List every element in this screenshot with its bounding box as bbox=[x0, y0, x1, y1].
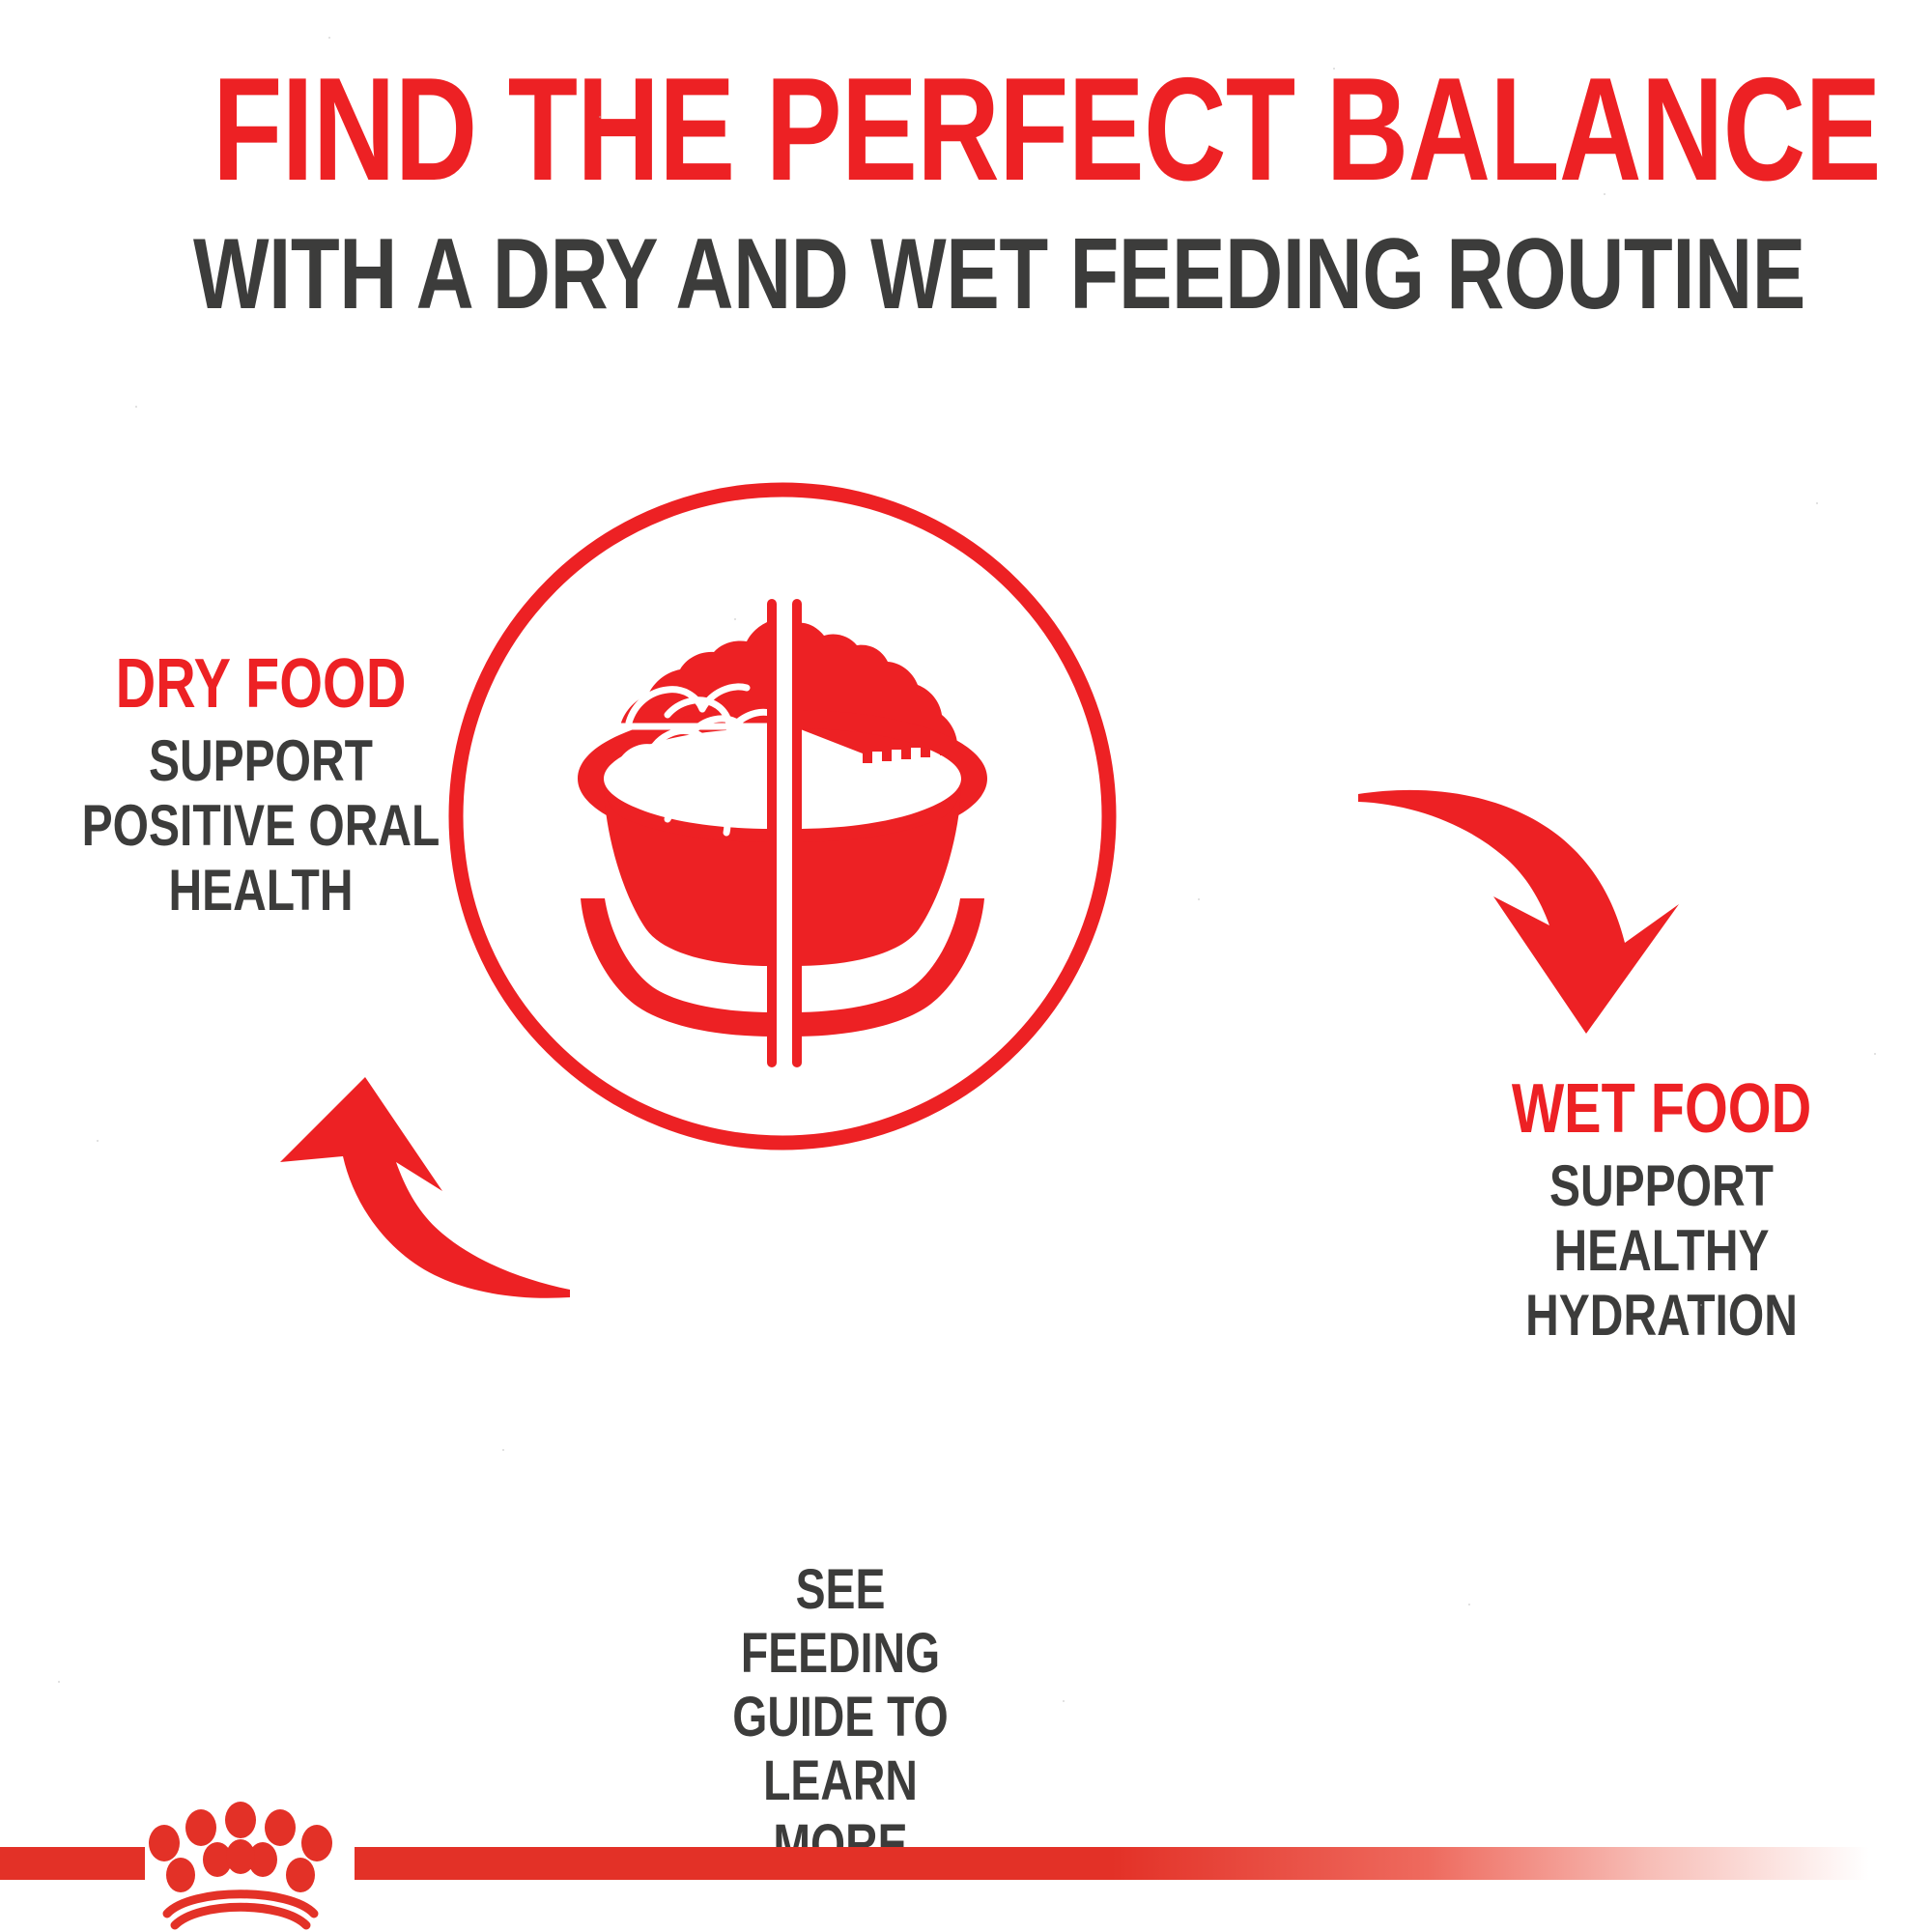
wet-food-kicker: WET FOOD bbox=[1457, 1074, 1866, 1144]
dry-food-text-block: DRY FOOD SUPPORT POSITIVE ORAL HEALTH bbox=[19, 649, 502, 923]
dry-food-kicker: DRY FOOD bbox=[68, 649, 454, 719]
footer bbox=[0, 1797, 1932, 1932]
heading-group: FIND THE PERFECT BALANCE WITH A DRY AND … bbox=[0, 60, 1932, 325]
dry-food-line-1: SUPPORT bbox=[149, 728, 373, 793]
royal-canin-crown-logo bbox=[135, 1799, 346, 1930]
curved-arrow-down-right-icon bbox=[1352, 753, 1700, 1053]
infographic-canvas: FIND THE PERFECT BALANCE WITH A DRY AND … bbox=[0, 0, 1932, 1932]
dry-food-line-2: POSITIVE ORAL bbox=[82, 793, 440, 858]
wet-food-line-1: SUPPORT HEALTHY bbox=[1549, 1153, 1774, 1283]
page-title: FIND THE PERFECT BALANCE bbox=[213, 60, 1719, 199]
wet-food-text-block: WET FOOD SUPPORT HEALTHY HYDRATION bbox=[1406, 1074, 1918, 1349]
wet-food-body: SUPPORT HEALTHY HYDRATION bbox=[1457, 1153, 1866, 1349]
page-subtitle: WITH A DRY AND WET FEEDING ROUTINE bbox=[193, 224, 1739, 325]
footer-bar-right bbox=[355, 1847, 1932, 1880]
dry-food-line-3: HEALTH bbox=[168, 858, 353, 923]
wet-food-line-2: HYDRATION bbox=[1525, 1283, 1798, 1348]
footer-bar-left bbox=[0, 1847, 145, 1880]
dry-food-body: SUPPORT POSITIVE ORAL HEALTH bbox=[68, 728, 454, 923]
feeding-guide-line-2: GUIDE TO bbox=[732, 1686, 948, 1748]
curved-arrow-up-left-icon bbox=[241, 1048, 570, 1338]
feeding-guide-line-1: SEE FEEDING bbox=[741, 1558, 940, 1685]
